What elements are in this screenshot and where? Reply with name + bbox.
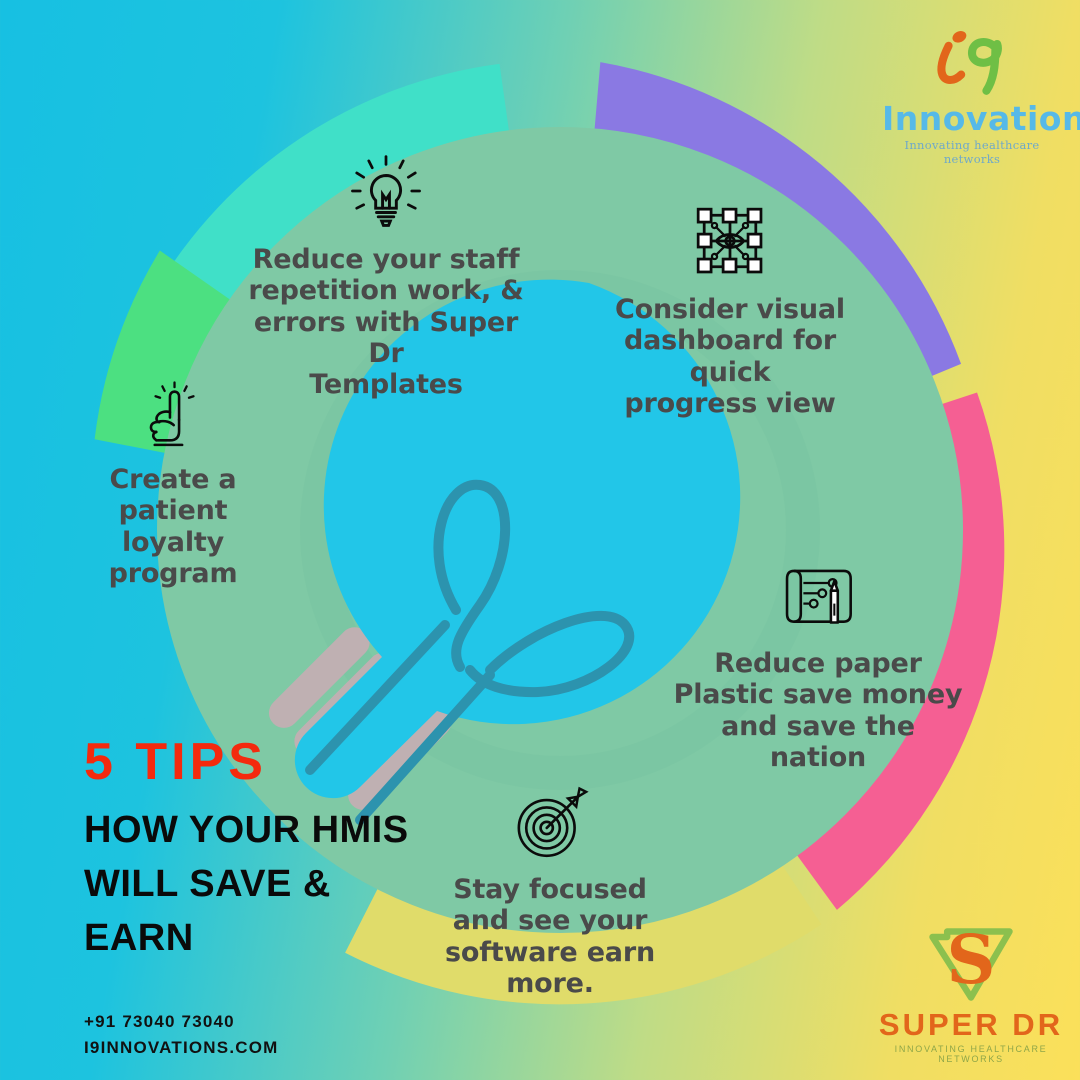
- pointing-finger-icon: [135, 378, 211, 454]
- blueprint-pencil-icon: [775, 552, 861, 638]
- segment-block-green[interactable]: Create a patient loyalty program: [80, 378, 266, 589]
- segment-block-teal[interactable]: Reduce your staff repetition work, & err…: [236, 148, 536, 401]
- super-dr-name: SUPER DR: [876, 1009, 1066, 1040]
- segment-text-teal: Reduce your staff repetition work, & err…: [236, 244, 536, 401]
- lightbulb-idea-icon: [343, 148, 429, 234]
- headline-block: 5 TIPS HOW YOUR HMIS WILL SAVE & EARN: [84, 735, 504, 965]
- contact-website[interactable]: I9INNOVATIONS.COM: [84, 1038, 279, 1058]
- contact-phone[interactable]: +91 73040 73040: [84, 1012, 279, 1032]
- contact-block: +91 73040 73040 I9INNOVATIONS.COM: [84, 1012, 279, 1058]
- i9-logo-name: Innovations: [882, 102, 1062, 135]
- headline-tips: 5 TIPS: [84, 735, 504, 790]
- segment-text-green: Create a patient loyalty program: [80, 464, 266, 589]
- logo-i9-innovations[interactable]: Innovations Innovating healthcare networ…: [882, 26, 1062, 166]
- segment-text-purple: Consider visual dashboard for quick prog…: [580, 294, 880, 419]
- target-arrow-icon: [509, 782, 591, 864]
- dashboard-eye-network-icon: [687, 198, 773, 284]
- super-dr-tagline: INNOVATING HEALTHCARE NETWORKS: [876, 1044, 1066, 1064]
- i9-mark-icon: [912, 26, 1032, 98]
- segment-text-pink: Reduce paper Plastic save money and save…: [668, 648, 968, 773]
- segment-block-purple[interactable]: Consider visual dashboard for quick prog…: [580, 198, 880, 419]
- logo-super-dr[interactable]: S SUPER DR INNOVATING HEALTHCARE NETWORK…: [876, 913, 1066, 1064]
- headline-subtitle: HOW YOUR HMIS WILL SAVE & EARN: [84, 804, 504, 966]
- i9-logo-tagline: Innovating healthcare networks: [882, 138, 1062, 166]
- super-dr-emblem-icon: S: [916, 913, 1026, 1005]
- segment-block-pink[interactable]: Reduce paper Plastic save money and save…: [668, 552, 968, 773]
- super-dr-letter: S: [947, 919, 996, 999]
